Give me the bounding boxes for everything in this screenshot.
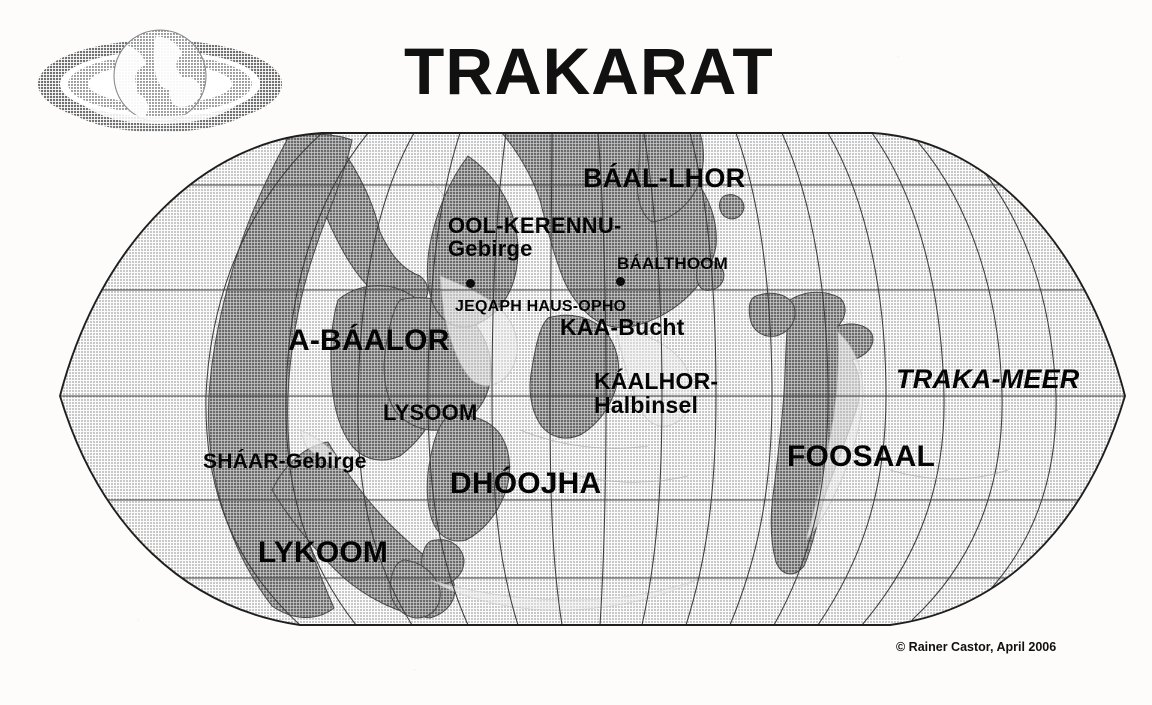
map-label-kaa-bucht: KAA-Bucht — [560, 314, 684, 341]
map-label-lykoom: LYKOOM — [258, 536, 388, 570]
land-foosaal-north-spur — [749, 293, 795, 336]
map-label-shaar-gebirge: SHÁAR-Gebirge — [203, 450, 367, 474]
map-label-foosaal: FOOSAAL — [787, 440, 935, 474]
map-label-a-baalor: A-BÁALOR — [288, 324, 450, 358]
map-label-kaalhor-halbinsel: KÁALHOR- Halbinsel — [594, 370, 718, 417]
world-map — [0, 0, 1152, 705]
copyright-notice: © Rainer Castor, April 2006 — [896, 640, 1056, 654]
map-label-ool-kerennu: OOL-KERENNU- Gebirge — [448, 215, 622, 260]
settlement-marker-jeqaph — [466, 279, 475, 288]
land-islet-ne — [720, 195, 745, 219]
map-label-lysoom: LYSOOM — [383, 400, 478, 426]
map-label-dhoojha: DHÓOJHA — [450, 467, 601, 501]
map-label-traka-meer: TRAKA-MEER — [896, 364, 1080, 395]
map-label-baalthoom: BÁALTHOOM — [617, 254, 728, 274]
map-label-baal-lhor: BÁAL-LHOR — [583, 163, 745, 194]
settlement-marker-baalthoom — [616, 277, 625, 286]
